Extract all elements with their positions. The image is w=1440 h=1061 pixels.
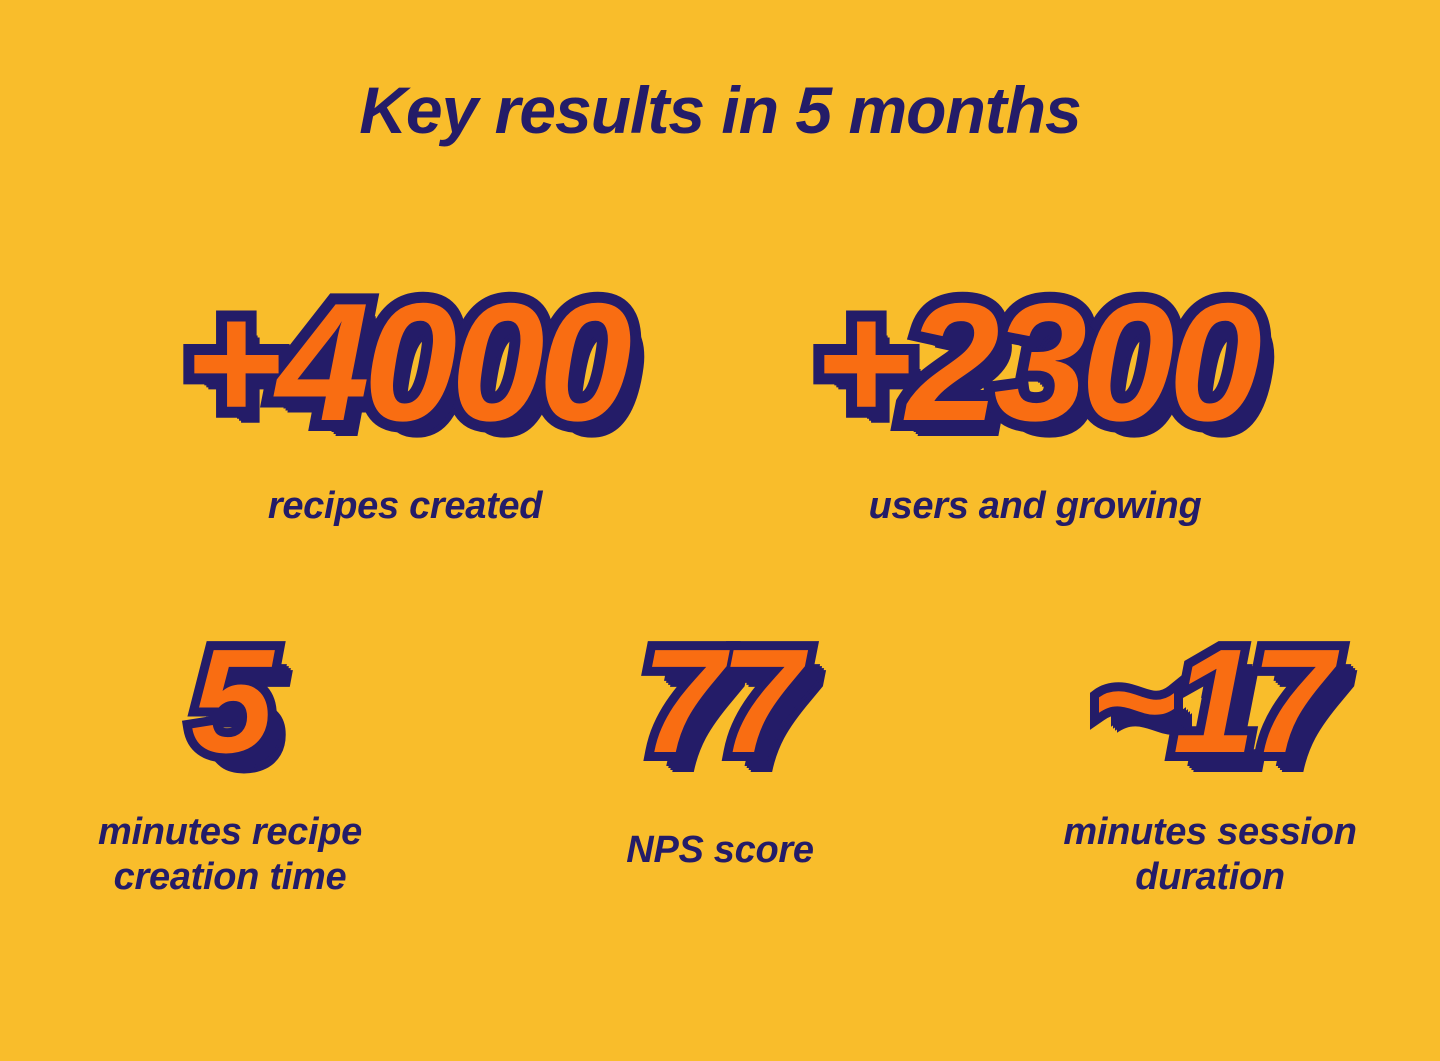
stats-row-bottom: 5 minutes recipe creation time 77 NPS sc… bbox=[0, 628, 1440, 900]
stat-card-recipe-creation-time: 5 minutes recipe creation time bbox=[60, 628, 400, 900]
stat-caption-nps-score: NPS score bbox=[626, 828, 813, 873]
key-results-slide: Key results in 5 months +4000 recipes cr… bbox=[0, 0, 1440, 1061]
stat-value-wrap: ~17 bbox=[1090, 628, 1329, 776]
stat-caption-users-growing: users and growing bbox=[869, 484, 1202, 529]
stat-value-nps-score: 77 bbox=[642, 628, 799, 776]
stat-card-session-duration: ~17 minutes session duration bbox=[1040, 628, 1380, 900]
page-title: Key results in 5 months bbox=[0, 76, 1440, 145]
stat-value-recipes-created: +4000 bbox=[184, 278, 626, 446]
stat-value-recipe-creation-time: 5 bbox=[191, 628, 269, 776]
stat-value-wrap: +4000 bbox=[184, 278, 626, 446]
stat-card-recipes-created: +4000 recipes created bbox=[155, 278, 655, 529]
stat-value-wrap: 77 bbox=[642, 628, 799, 776]
stat-card-users-growing: +2300 users and growing bbox=[785, 278, 1285, 529]
stat-card-nps-score: 77 NPS score bbox=[550, 628, 890, 873]
stat-caption-session-duration: minutes session duration bbox=[1063, 810, 1356, 900]
stat-value-users-growing: +2300 bbox=[814, 278, 1256, 446]
stat-caption-recipe-creation-time: minutes recipe creation time bbox=[98, 810, 362, 900]
stats-row-top: +4000 recipes created +2300 users and gr… bbox=[0, 278, 1440, 529]
stat-caption-recipes-created: recipes created bbox=[268, 484, 542, 529]
stat-value-session-duration: ~17 bbox=[1090, 628, 1329, 776]
stat-value-wrap: 5 bbox=[191, 628, 269, 776]
stat-value-wrap: +2300 bbox=[814, 278, 1256, 446]
